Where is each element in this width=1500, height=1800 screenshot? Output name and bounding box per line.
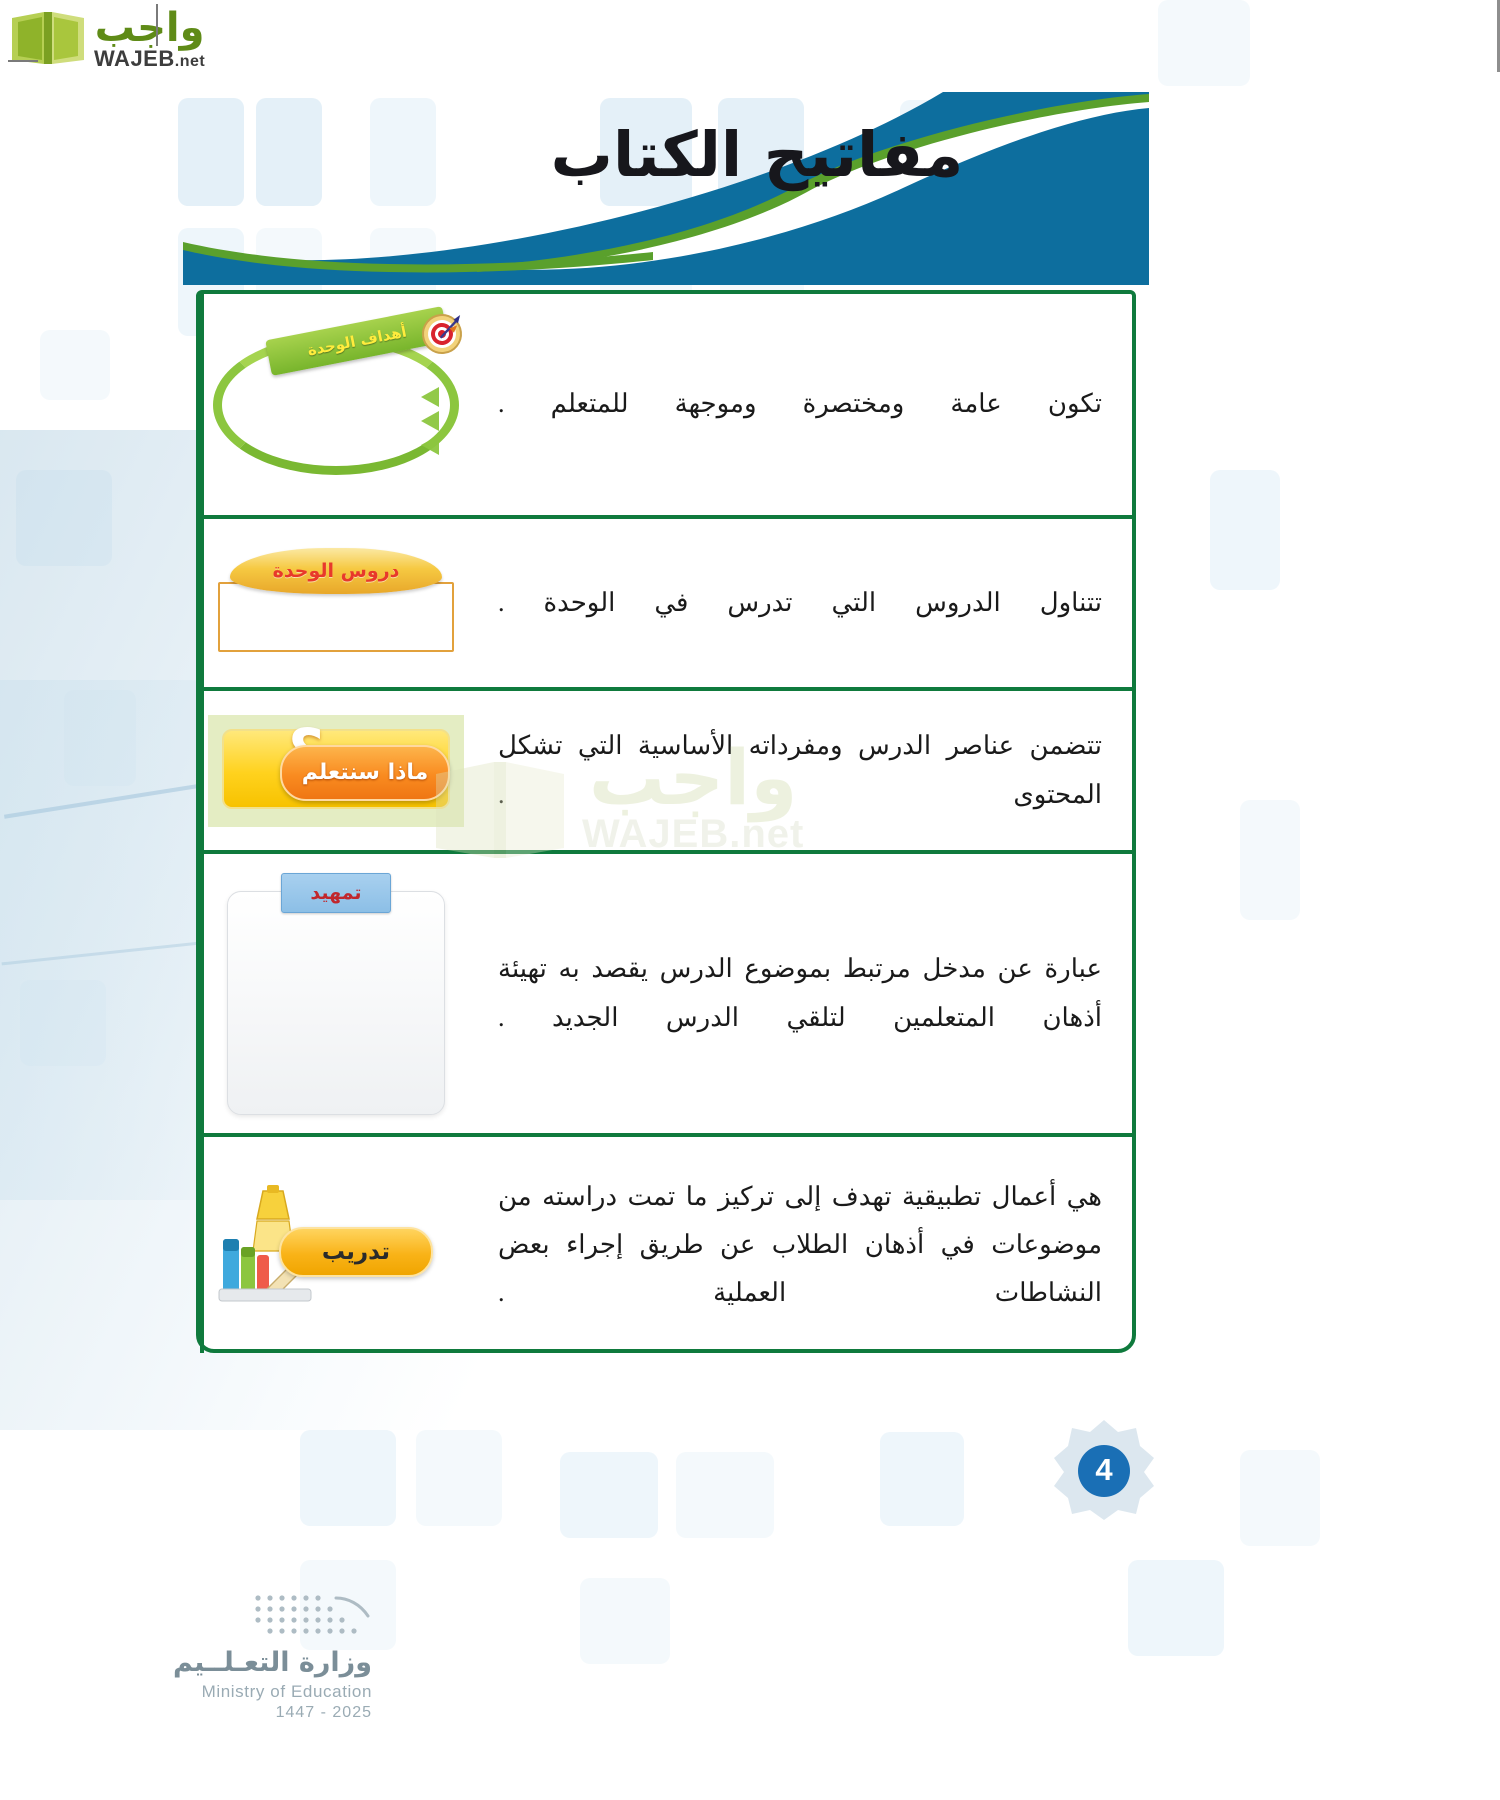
ministry-years: 2025 - 1447 — [72, 1704, 372, 1722]
row-description-cell: تكون عامة ومختصرة وموجهة للمتعلم . — [468, 294, 1132, 515]
triangle-arrow-icon — [421, 387, 439, 407]
table-row: عبارة عن مدخل مرتبط بموضوع الدرس يقصد به… — [200, 854, 1132, 1137]
row-icon-cell: ؟ ماذا سنتعلم — [200, 691, 468, 850]
row-description-text: تكون عامة ومختصرة وموجهة للمتعلم . — [498, 380, 1102, 428]
bg-square — [1210, 470, 1280, 590]
bg-square — [64, 690, 136, 786]
bg-square — [1240, 1450, 1320, 1546]
book-keys-table: تكون عامة ومختصرة وموجهة للمتعلم . أهداف… — [196, 290, 1136, 1353]
table-row: تتضمن عناصر الدرس ومفرداته الأساسية التي… — [200, 691, 1132, 854]
row-description-cell: تتضمن عناصر الدرس ومفرداته الأساسية التي… — [468, 691, 1132, 850]
lessons-ribbon-label: دروس الوحدة — [273, 560, 400, 582]
learn-pill: ماذا سنتعلم — [280, 745, 450, 801]
bg-square — [1240, 800, 1300, 920]
bg-square — [1158, 0, 1250, 86]
exercise-pill: تدريب — [211, 1185, 461, 1305]
lessons-ribbon: دروس الوحدة — [230, 548, 442, 594]
logo-latin-text: WAJEB.net — [94, 46, 205, 72]
introduction-tab: تمهيد — [281, 873, 391, 913]
moe-dot-pattern-icon — [252, 1592, 372, 1638]
bg-square — [580, 1578, 670, 1664]
page-title-banner: مفاتيح الكتاب — [183, 92, 1149, 285]
logo-latin-word: WAJEB — [94, 46, 175, 71]
exercise-pill-shape: تدريب — [279, 1227, 433, 1277]
bg-square — [40, 330, 110, 400]
unit-lessons-banner: دروس الوحدة — [210, 548, 462, 658]
ministry-of-education-logo: وزارة التعـلــيم Ministry of Education 2… — [72, 1592, 372, 1722]
introduction-white-card — [227, 891, 445, 1115]
introduction-panel: تمهيد — [227, 873, 445, 1115]
row-description-text: عبارة عن مدخل مرتبط بموضوع الدرس يقصد به… — [498, 945, 1102, 1041]
row-icon-cell: دروس الوحدة — [200, 519, 468, 687]
row-icon-cell: تدريب — [200, 1137, 468, 1353]
row-description-text: هي أعمال تطبيقية تهدف إلى تركيز ما تمت د… — [498, 1173, 1102, 1317]
objectives-arrow-bullets — [421, 387, 439, 455]
logo-tld: .net — [175, 53, 205, 70]
triangle-arrow-icon — [421, 411, 439, 431]
page-title: مفاتيح الكتاب — [437, 118, 1077, 191]
table-row: هي أعمال تطبيقية تهدف إلى تركيز ما تمت د… — [200, 1137, 1132, 1353]
logo-crop-mark — [8, 60, 38, 62]
bg-square — [20, 980, 106, 1066]
triangle-arrow-icon — [421, 435, 439, 455]
row-description-text: تتناول الدروس التي تدرس في الوحدة . — [498, 579, 1102, 627]
learn-pill-label: ماذا سنتعلم — [302, 760, 429, 785]
bg-square — [300, 1430, 396, 1526]
bg-square — [676, 1452, 774, 1538]
bg-square — [1128, 1560, 1224, 1656]
row-description-text: تتضمن عناصر الدرس ومفرداته الأساسية التي… — [498, 722, 1102, 818]
bg-square — [560, 1452, 658, 1538]
wajeb-logo: واجب WAJEB.net — [8, 4, 205, 72]
table-row: تكون عامة ومختصرة وموجهة للمتعلم . أهداف… — [200, 294, 1132, 519]
logo-arabic-text: واجب — [95, 8, 205, 48]
ministry-name-english: Ministry of Education — [72, 1682, 372, 1702]
target-dartboard-icon — [419, 310, 465, 356]
row-description-cell: عبارة عن مدخل مرتبط بموضوع الدرس يقصد به… — [468, 854, 1132, 1133]
page-number-badge: 4 — [1052, 1418, 1156, 1522]
what-we-learn-badge: ؟ ماذا سنتعلم — [208, 715, 464, 827]
introduction-tab-label: تمهيد — [310, 882, 361, 904]
row-description-cell: تتناول الدروس التي تدرس في الوحدة . — [468, 519, 1132, 687]
table-row: تتناول الدروس التي تدرس في الوحدة . دروس… — [200, 519, 1132, 691]
logo-crop-mark — [156, 4, 158, 46]
row-icon-cell: تمهيد — [200, 854, 468, 1133]
ministry-name-arabic: وزارة التعـلــيم — [72, 1647, 372, 1678]
exercise-pill-label: تدريب — [322, 1239, 390, 1265]
unit-objectives-oval: أهداف الوحدة — [213, 335, 459, 475]
bg-square — [16, 470, 112, 566]
row-icon-cell: أهداف الوحدة — [200, 294, 468, 515]
page-number-text: 4 — [1052, 1418, 1156, 1522]
row-description-cell: هي أعمال تطبيقية تهدف إلى تركيز ما تمت د… — [468, 1137, 1132, 1353]
bg-square — [416, 1430, 502, 1526]
bg-square — [880, 1432, 964, 1526]
